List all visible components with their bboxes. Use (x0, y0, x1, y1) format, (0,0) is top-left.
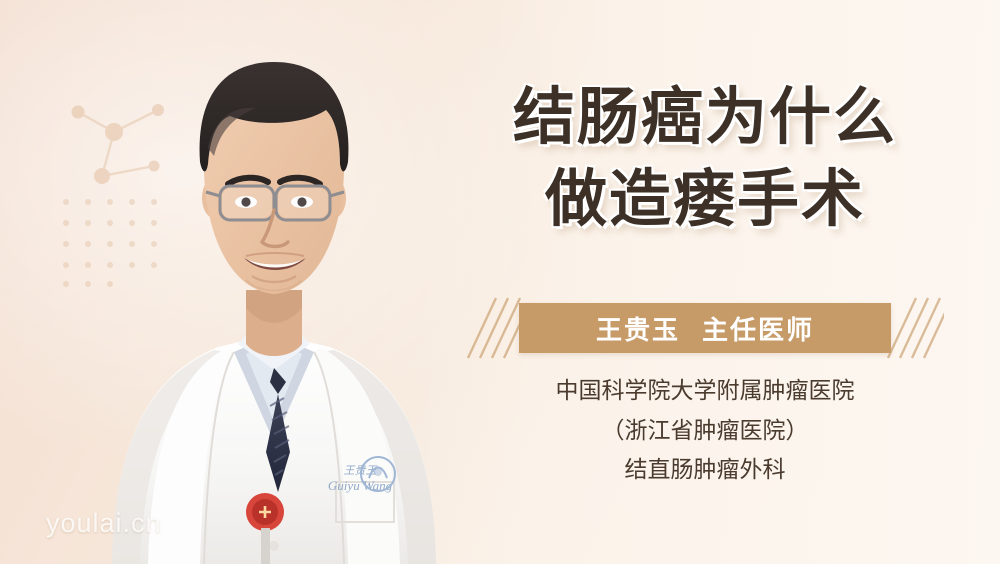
poster-canvas: 王贵玉 Guiyu Wang 结肠癌为什么 做造瘘手术 (0, 0, 1000, 564)
hatch-lines-decoration-right (886, 296, 944, 360)
page-title: 结肠癌为什么 做造瘘手术 (455, 76, 955, 240)
hatch-lines-decoration-left (466, 296, 524, 360)
watermark: youlai.cn (46, 508, 162, 539)
doctor-name-band: 王贵玉 主任医师 (519, 303, 891, 353)
doctor-name: 王贵玉 (596, 310, 680, 347)
affiliation-text: 中国科学院大学附属肿瘤医院 （浙江省肿瘤医院） 结直肠肿瘤外科 (455, 372, 955, 491)
doctor-title: 主任医师 (702, 310, 814, 347)
doctor-portrait: 王贵玉 Guiyu Wang (78, 22, 470, 564)
